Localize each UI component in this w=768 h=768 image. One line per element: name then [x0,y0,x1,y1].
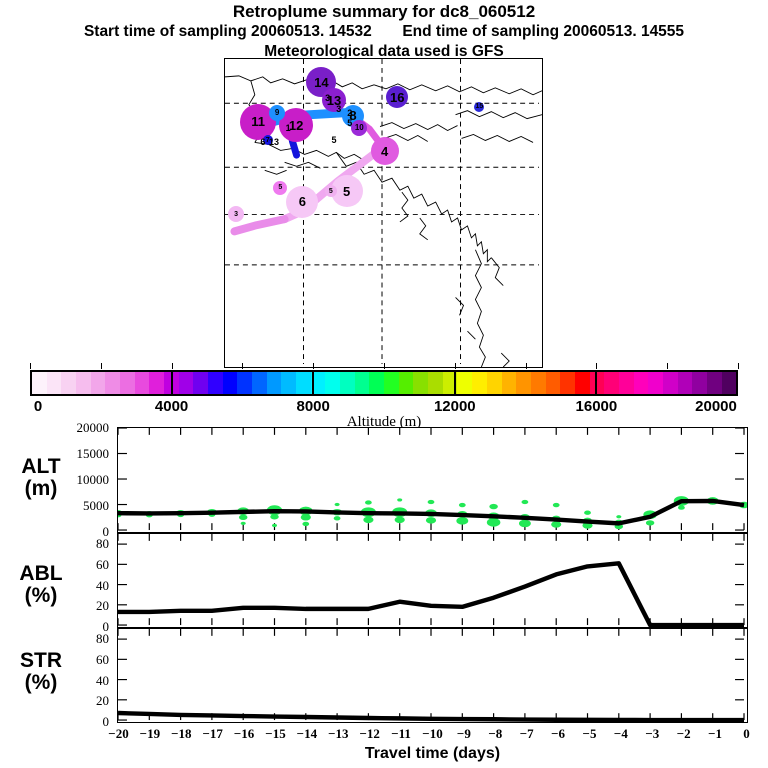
map-marker-label: 9 [275,109,279,117]
abl-row-label-line1: ABL [8,563,74,585]
map-text-label: 3 [325,93,330,103]
x-tick-label: −8 [488,726,502,742]
x-tick-label: −15 [265,726,285,742]
alt-row-label-line1: ALT [8,456,74,478]
colorbar-swatch-20 [325,372,340,394]
end-time-label: End time of sampling 20060513. 14555 [402,23,684,40]
x-axis-title: Travel time (days) [117,745,748,763]
map-marker-5[interactable]: 5 [273,181,287,195]
str-panel[interactable] [117,628,748,723]
colorbar-minor-tick [384,363,385,369]
map-text-label: 6 [260,137,265,147]
str-plot-canvas [118,629,747,722]
abl-panel[interactable] [117,533,748,628]
colorbar-swatch-45 [692,372,707,394]
x-tick-label: −2 [677,726,691,742]
colorbar-label: 4000 [155,398,188,415]
colorbar-swatch-44 [678,372,693,394]
colorbar-label: 0 [34,398,42,415]
y-tick-label: 40 [96,578,109,594]
x-tick-label: −5 [583,726,597,742]
colorbar-swatch-43 [663,372,678,394]
colorbar-divider [171,370,173,396]
map-marker-3[interactable]: 3 [228,206,244,222]
colorbar-divider [454,370,456,396]
colorbar-swatch-23 [369,372,384,394]
x-tick-label: −11 [391,726,411,742]
abl-plot-canvas [118,534,747,627]
colorbar-swatch-12 [208,372,223,394]
colorbar-swatch-41 [634,372,649,394]
map-marker-16[interactable]: 16 [386,86,408,108]
y-tick-label: 15000 [77,446,110,462]
map-marker-label: 5 [343,185,350,198]
colorbar-swatch-21 [340,372,355,394]
alt-row-label: ALT (m) [8,456,74,500]
abl-y-labels: 020406080 [0,533,115,534]
colorbar-swatch-46 [707,372,722,394]
colorbar-tick [172,363,173,369]
colorbar-swatch-27 [428,372,443,394]
alt-y-labels: 05000100001500020000 [0,427,115,428]
colorbar-swatch-40 [619,372,634,394]
colorbar-swatch-8 [149,372,164,394]
colorbar-swatch-37 [575,372,590,394]
colorbar-label: 12000 [434,398,476,415]
map-marker-9[interactable]: 9 [269,105,285,121]
x-tick-label: −4 [614,726,628,742]
colorbar-swatch-36 [560,372,575,394]
colorbar-tick [738,363,739,369]
colorbar-swatch-3 [76,372,91,394]
str-row-label-line1: STR [8,650,74,672]
colorbar-swatch-42 [648,372,663,394]
colorbar-swatch-2 [61,372,76,394]
x-tick-label: −7 [520,726,534,742]
map-gridlines [225,59,539,364]
y-tick-label: 20 [96,693,109,709]
colorbar-swatch-15 [252,372,267,394]
map-marker-label: 10 [355,124,364,132]
alt-plot-canvas [118,428,747,532]
colorbar-swatch-6 [120,372,135,394]
colorbar-swatch-11 [193,372,208,394]
colorbar-swatch-25 [399,372,414,394]
colorbar-swatch-30 [472,372,487,394]
colorbar-tick [313,363,314,369]
colorbar-swatch-32 [502,372,517,394]
colorbar-tick [455,363,456,369]
x-tick-label: −12 [359,726,379,742]
colorbar-swatch-1 [47,372,62,394]
alt-panel[interactable] [117,427,748,533]
map-marker-label: 16 [390,91,404,104]
x-tick-label: −16 [234,726,254,742]
colorbar-label: 8000 [297,398,330,415]
map-marker-10[interactable]: 10 [351,120,367,136]
y-tick-label: 60 [96,557,109,573]
retroplume-map[interactable]: 14131615111298104565537 331255613 [224,58,543,368]
colorbar-divider [595,370,597,396]
colorbar-minor-tick [101,363,102,369]
page-title: Retroplume summary for dc8_060512 [0,2,768,22]
map-marker-label: 3 [234,211,238,218]
y-tick-label: 5000 [83,498,109,514]
y-tick-label: 20000 [77,420,110,436]
colorbar-swatch-31 [487,372,502,394]
abl-row-label-line2: (%) [8,585,74,607]
colorbar-swatch-35 [546,372,561,394]
x-tick-label: −18 [171,726,191,742]
str-row-label: STR (%) [8,650,74,694]
sampling-time-line: Start time of sampling 20060513. 14532 E… [0,22,768,42]
map-marker-6[interactable]: 6 [286,186,318,218]
map-text-label: 3 [336,104,341,114]
colorbar-swatch-26 [413,372,428,394]
alt-row-label-line2: (m) [8,478,74,500]
map-marker-label: 5 [329,188,333,195]
y-tick-label: 20 [96,598,109,614]
y-tick-label: 80 [96,631,109,647]
colorbar-swatch-7 [135,372,150,394]
colorbar-swatch-18 [296,372,311,394]
colorbar-divider [312,370,314,396]
y-tick-label: 60 [96,652,109,668]
map-marker-label: 12 [289,119,303,132]
colorbar-label: 20000 [695,398,737,415]
x-tick-labels: −20−19−18−17−16−15−14−13−12−11−10−9−8−7−… [117,726,748,746]
colorbar-swatch-24 [384,372,399,394]
colorbar-swatch-13 [223,372,238,394]
x-tick-label: 0 [743,726,750,742]
colorbar-swatch-14 [237,372,252,394]
colorbar-swatch-34 [531,372,546,394]
x-tick-label: −17 [202,726,222,742]
map-marker-label: 15 [475,103,483,110]
altitude-colorbar[interactable]: 040008000120001600020000 Altitude (m) [30,370,738,396]
str-row-label-line2: (%) [8,672,74,694]
x-tick-label: −1 [708,726,722,742]
y-tick-label: 10000 [77,472,110,488]
map-text-label: 13 [269,137,279,147]
map-marker-15[interactable]: 15 [474,102,484,112]
map-marker-label: 4 [381,145,388,158]
colorbar-minor-tick [526,363,527,369]
map-text-label: 1 [286,123,291,133]
colorbar-swatch-29 [457,372,472,394]
map-text-label: 5 [347,118,352,128]
x-tick-label: −14 [297,726,317,742]
y-tick-label: 80 [96,536,109,552]
x-tick-label: −10 [422,726,442,742]
colorbar-swatch-16 [267,372,282,394]
colorbar-tick [596,363,597,369]
colorbar-swatch-47 [722,372,737,394]
x-tick-label: −20 [108,726,128,742]
colorbar-swatch-5 [105,372,120,394]
colorbar-swatch-10 [179,372,194,394]
map-marker-label: 14 [314,76,328,89]
colorbar-swatch-22 [355,372,370,394]
map-text-label: 2 [347,108,352,118]
map-marker-label: 11 [251,115,265,128]
colorbar-gradient [30,370,738,396]
colorbar-label: 16000 [576,398,618,415]
map-marker-5[interactable]: 5 [325,185,337,197]
colorbar-swatch-4 [91,372,106,394]
y-tick-label: 40 [96,673,109,689]
map-marker-label: 5 [278,184,282,191]
abl-row-label: ABL (%) [8,563,74,607]
map-marker-label: 6 [299,195,306,208]
x-tick-label: −6 [551,726,565,742]
x-tick-label: −13 [328,726,348,742]
map-marker-4[interactable]: 4 [371,137,399,165]
colorbar-tick [30,363,31,369]
colorbar-minor-tick [242,363,243,369]
x-tick-label: −19 [140,726,160,742]
start-time-label: Start time of sampling 20060513. 14532 [84,23,372,40]
colorbar-minor-tick [667,363,668,369]
map-text-label: 5 [332,135,337,145]
colorbar-swatch-33 [516,372,531,394]
colorbar-swatch-17 [281,372,296,394]
title-block: Retroplume summary for dc8_060512 Start … [0,2,768,62]
colorbar-swatch-0 [32,372,47,394]
x-tick-label: −9 [457,726,471,742]
str-y-labels: 020406080 [0,628,115,629]
x-tick-label: −3 [645,726,659,742]
colorbar-swatch-39 [604,372,619,394]
